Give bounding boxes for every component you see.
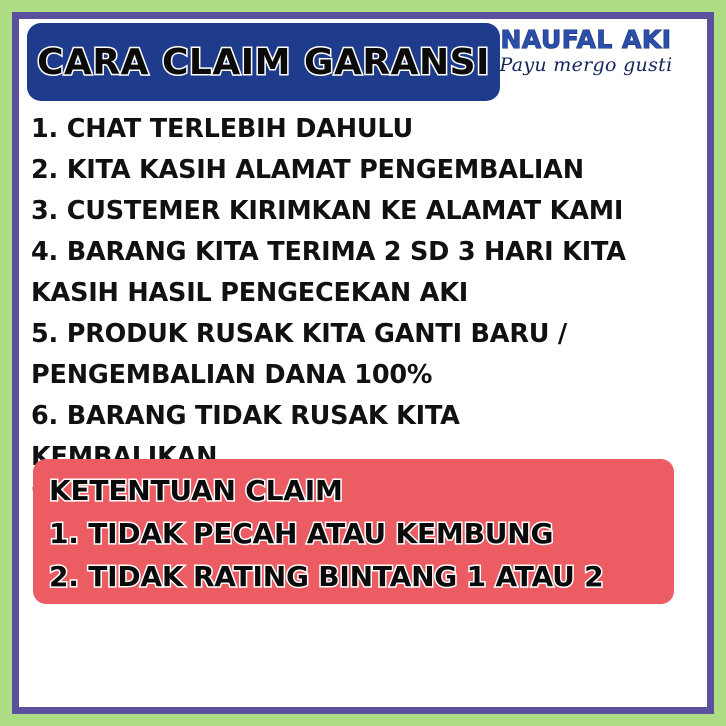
list-item: PENGEMBALIAN DANA 100% — [31, 355, 697, 396]
poster-header: CARA CLAIM GARANSI NAUFAL AKI Payu mergo… — [19, 19, 707, 109]
list-item: 6. BARANG TIDAK RUSAK KITA — [31, 396, 697, 437]
terms-box: KETENTUAN CLAIM 1. TIDAK PECAH ATAU KEMB… — [33, 459, 674, 604]
brand-tagline: Payu mergo gusti — [481, 54, 691, 77]
list-item: 2. KITA KASIH ALAMAT PENGEMBALIAN — [31, 150, 697, 191]
list-item: KASIH HASIL PENGECEKAN AKI — [31, 273, 697, 314]
list-item: 3. CUSTEMER KIRIMKAN KE ALAMAT KAMI — [31, 191, 697, 232]
brand-name: NAUFAL AKI — [481, 27, 691, 53]
list-item: 1. CHAT TERLEBIH DAHULU — [31, 109, 697, 150]
title-banner: CARA CLAIM GARANSI — [27, 23, 500, 101]
brand-logo: NAUFAL AKI Payu mergo gusti — [481, 27, 691, 77]
poster-card: CARA CLAIM GARANSI NAUFAL AKI Payu mergo… — [19, 19, 707, 707]
list-item: 5. PRODUK RUSAK KITA GANTI BARU / — [31, 314, 697, 355]
list-item: 2. TIDAK RATING BINTANG 1 ATAU 2 — [49, 555, 674, 598]
purple-frame-border: CARA CLAIM GARANSI NAUFAL AKI Payu mergo… — [12, 12, 714, 714]
terms-heading: KETENTUAN CLAIM — [49, 469, 674, 512]
claim-steps-list: 1. CHAT TERLEBIH DAHULU 2. KITA KASIH AL… — [19, 109, 707, 519]
list-item: 4. BARANG KITA TERIMA 2 SD 3 HARI KITA — [31, 232, 697, 273]
page-title: CARA CLAIM GARANSI — [37, 42, 490, 83]
list-item: 1. TIDAK PECAH ATAU KEMBUNG — [49, 512, 674, 555]
poster-root: CARA CLAIM GARANSI NAUFAL AKI Payu mergo… — [0, 0, 726, 726]
